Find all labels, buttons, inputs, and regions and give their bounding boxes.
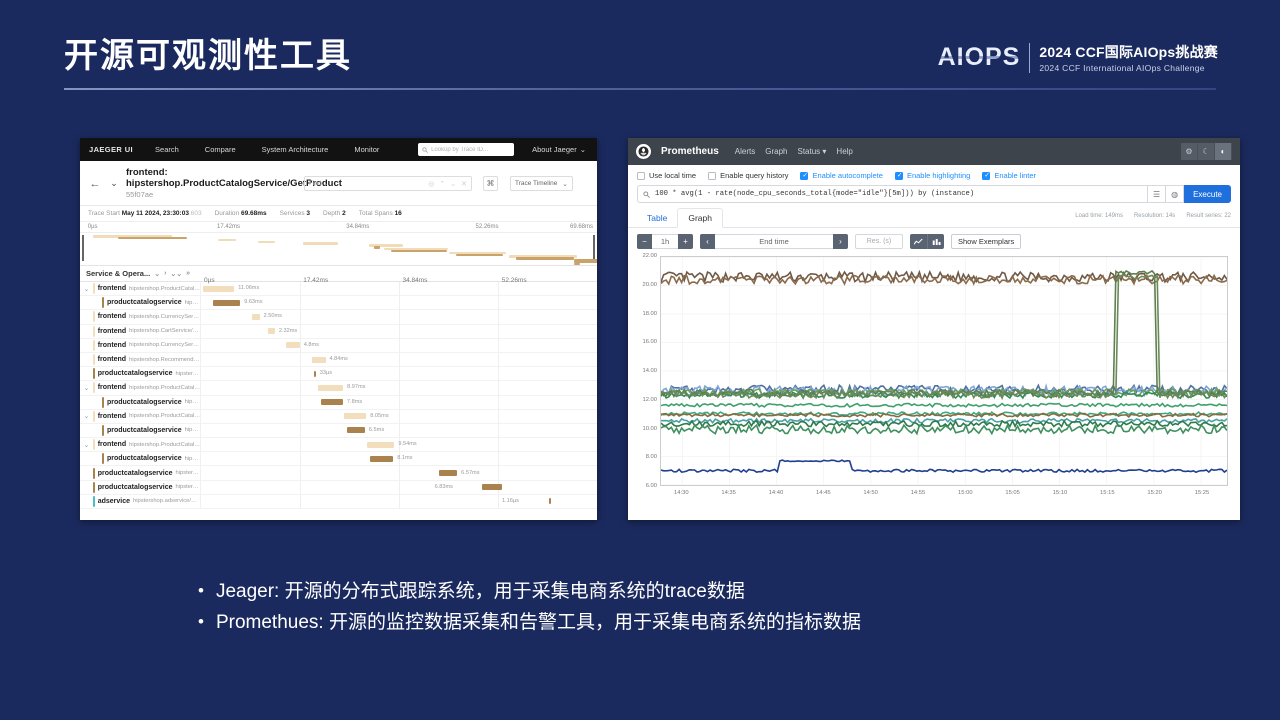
grid-line: [300, 466, 301, 480]
span-name-cell: adservicehipstershop.adservice/ge...: [80, 496, 200, 507]
expand-caret-icon[interactable]: ⌄: [83, 285, 90, 293]
nav-item-status[interactable]: Status ▾: [797, 147, 826, 156]
y-tick-label: 8.00: [646, 454, 657, 460]
grid-line: [498, 409, 499, 423]
time-prev-button[interactable]: ‹: [700, 234, 715, 249]
minimap-span-bar: [374, 246, 380, 249]
table-row[interactable]: frontendhipstershop.CartService/G...2.32…: [80, 325, 597, 339]
grid-line: [300, 338, 301, 352]
grid-line: [399, 338, 400, 352]
aiops-logo-mark: AIOPS: [938, 43, 1021, 72]
span-track: 8.05ms: [200, 409, 597, 423]
span-name-cell: frontendhipstershop.CurrencyServi...: [80, 340, 200, 351]
span-duration-bar[interactable]: [318, 385, 343, 391]
span-operation-name: hipstershop.ProductCatalo...: [129, 413, 200, 419]
table-row[interactable]: productcatalogservicehips...6.5ms: [80, 424, 597, 438]
bullet-dot-icon: •: [198, 580, 204, 602]
checkbox-enable-highlighting[interactable]: Enable highlighting: [895, 171, 970, 180]
chart-series-line: [661, 460, 1227, 472]
range-increase-button[interactable]: +: [678, 234, 693, 249]
span-track: 4.8ms: [200, 338, 597, 352]
table-row[interactable]: ⌄frontendhipstershop.ProductCatalo...11.…: [80, 282, 597, 296]
tab-table[interactable]: Table: [637, 209, 677, 227]
nav-item-monitor[interactable]: Monitor: [354, 145, 379, 154]
service-color-tick: [93, 326, 95, 337]
span-service-name: frontend: [98, 384, 126, 391]
span-name-cell: productcatalogservicehips...: [80, 397, 200, 408]
span-name-cell: productcatalogservicehipsters...: [80, 368, 200, 379]
minimap-span-bar: [574, 263, 580, 266]
minimap-left-handle[interactable]: [82, 235, 84, 261]
service-operation-label: Service & Opera...: [86, 269, 150, 278]
double-chevron-right-icon[interactable]: »: [186, 270, 190, 278]
minimap-tick: 0µs: [88, 224, 98, 230]
span-operation-name: hipsters...: [175, 470, 200, 476]
span-rows: ⌄frontendhipstershop.ProductCatalo...11.…: [80, 282, 597, 509]
minimap-right-handle[interactable]: [593, 235, 595, 261]
span-operation-name: hipstershop.CartService/G...: [129, 328, 200, 334]
span-operation-name: hipstershop.adservice/ge...: [133, 498, 200, 504]
grid-line: [399, 367, 400, 381]
status-label: Status: [797, 147, 820, 156]
span-duration-bar[interactable]: [321, 399, 343, 405]
service-color-tick: [93, 439, 95, 450]
span-service-name: productcatalogservice: [107, 299, 182, 306]
end-time-input[interactable]: End time: [715, 234, 833, 249]
logo-title-cn: 2024 CCF国际AIOps挑战赛: [1039, 42, 1218, 62]
span-duration-bar[interactable]: [367, 442, 394, 448]
table-row[interactable]: frontendhipstershop.CurrencyServi...2.50…: [80, 310, 597, 324]
title-divider: [64, 88, 1216, 90]
find-placeholder: Find...: [309, 180, 327, 187]
span-duration-label: 4.8ms: [304, 342, 319, 348]
close-icon[interactable]: ✕: [461, 180, 467, 188]
grid-line: [498, 423, 499, 437]
query-stats: Load time: 149ms Resolution: 14s Result …: [1075, 213, 1231, 222]
table-row[interactable]: productcatalogservicehips...7.8ms: [80, 396, 597, 410]
metrics-explorer-icon[interactable]: ☰: [1148, 185, 1166, 203]
show-exemplars-button[interactable]: Show Exemplars: [951, 234, 1021, 249]
span-service-name: productcatalogservice: [107, 455, 182, 462]
grid-line: [498, 466, 499, 480]
trace-title: frontend: hipstershop.ProductCatalogServ…: [126, 167, 276, 200]
span-operation-name: hipstershop.ProductCatalo...: [129, 286, 200, 292]
checkbox-label: Enable autocomplete: [812, 171, 882, 180]
span-name-cell: frontendhipstershop.CartService/G...: [80, 326, 200, 337]
checkbox-box[interactable]: [708, 172, 716, 180]
service-color-tick: [93, 382, 95, 393]
prometheus-screenshot: Prometheus Alerts Graph Status ▾ Help ⚙ …: [628, 138, 1240, 520]
meta-depth: Depth 2: [323, 210, 346, 217]
span-duration-bar[interactable]: [252, 314, 259, 320]
cpu-usage-chart: 6.008.0010.0012.0014.0016.0018.0020.0022…: [637, 256, 1228, 508]
meta-duration: Duration 69.68ms: [215, 210, 267, 217]
span-name-cell: frontendhipstershop.CurrencyServi...: [80, 311, 200, 322]
grid-line: [300, 282, 301, 296]
service-color-tick: [93, 496, 95, 507]
view-mode-select[interactable]: Trace Timeline ⌄: [510, 176, 573, 191]
minimap-canvas: [88, 233, 589, 266]
minimap-span-bar: [303, 242, 338, 245]
span-duration-label: 33µs: [320, 370, 332, 376]
checkbox-use-local-time[interactable]: Use local time: [637, 171, 696, 180]
y-tick-label: 16.00: [642, 339, 657, 345]
grid-line: [498, 310, 499, 324]
stat-result-series: Result series: 22: [1186, 213, 1231, 219]
grid-line: [399, 494, 400, 508]
prometheus-brand[interactable]: Prometheus: [661, 146, 719, 157]
service-color-tick: [93, 311, 95, 322]
span-name-cell: ⌄frontendhipstershop.ProductCatalo...: [80, 382, 200, 393]
trace-id: 55f07ae: [126, 190, 153, 199]
minimap-tick: 34.84ms: [346, 224, 369, 230]
service-color-tick: [102, 453, 104, 464]
span-duration-label: 9.54ms: [398, 441, 416, 447]
span-duration-label: 11.06ms: [238, 285, 259, 291]
theme-controls: ⚙ ☾ ◐: [1181, 143, 1232, 160]
checkbox-label: Enable linter: [994, 171, 1036, 180]
span-track: 4.84ms: [200, 353, 597, 367]
span-operation-name: hipstershop.ProductCatalo...: [129, 385, 200, 391]
grid-line: [498, 452, 499, 466]
logo-divider: [1029, 43, 1030, 73]
table-row[interactable]: frontendhipstershop.Recommendat...4.84ms: [80, 353, 597, 367]
nav-item-graph[interactable]: Graph: [765, 147, 787, 156]
span-duration-label: 9.63ms: [244, 299, 262, 305]
query-input[interactable]: 100 * avg(1 - rate(node_cpu_seconds_tota…: [637, 185, 1148, 203]
service-color-tick: [93, 482, 95, 493]
expand-collapse-controls[interactable]: ⌄ › ⌄⌄ »: [154, 270, 190, 278]
chart-series-line: [661, 421, 1227, 427]
checkbox-enable-linter[interactable]: Enable linter: [982, 171, 1036, 180]
grid-line: [399, 423, 400, 437]
checkbox-label: Enable highlighting: [907, 171, 970, 180]
grid-line: [498, 353, 499, 367]
resolution-input[interactable]: Res. (s): [855, 234, 903, 249]
span-duration-bar[interactable]: [370, 456, 393, 462]
grid-line: [399, 353, 400, 367]
stat-resolution: Resolution: 14s: [1134, 213, 1175, 219]
span-track: 9.54ms: [200, 438, 597, 452]
span-duration-bar[interactable]: [286, 342, 300, 348]
span-duration-label: 7.8ms: [347, 399, 362, 405]
grid-line: [399, 324, 400, 338]
grid-line: [300, 324, 301, 338]
table-row[interactable]: productcatalogservicehips...9.63ms: [80, 296, 597, 310]
stat-load-time: Load time: 149ms: [1075, 213, 1123, 219]
range-value[interactable]: 1h: [652, 234, 678, 249]
span-duration-bar[interactable]: [203, 286, 234, 292]
span-service-name: frontend: [98, 413, 126, 420]
table-row[interactable]: productcatalogservicehips...8.1ms: [80, 452, 597, 466]
back-button[interactable]: ←: [88, 178, 102, 190]
checkbox-box[interactable]: [895, 172, 903, 180]
minimap-ticks: 0µs17.42ms34.84ms52.26ms69.68ms: [80, 222, 597, 233]
grid-line: [399, 296, 400, 310]
prometheus-navbar: Prometheus Alerts Graph Status ▾ Help ⚙ …: [628, 138, 1240, 165]
y-tick-label: 14.00: [642, 368, 657, 374]
keyboard-shortcut-button[interactable]: ⌘: [483, 176, 498, 191]
checkbox-enable-autocomplete[interactable]: Enable autocomplete: [800, 171, 882, 180]
range-decrease-button[interactable]: −: [637, 234, 652, 249]
service-color-tick: [93, 354, 95, 365]
trace-minimap[interactable]: 0µs17.42ms34.84ms52.26ms69.68ms: [80, 222, 597, 266]
span-service-name: productcatalogservice: [107, 399, 182, 406]
chart-plot-area[interactable]: [660, 256, 1228, 486]
span-track: 11.06ms: [200, 282, 597, 296]
span-name-cell: productcatalogservicehips...: [80, 425, 200, 436]
contrast-icon[interactable]: ◐: [1215, 143, 1232, 160]
span-duration-bar[interactable]: [314, 371, 316, 377]
stacked-chart-icon[interactable]: [927, 234, 944, 249]
chart-y-axis: 6.008.0010.0012.0014.0016.0018.0020.0022…: [637, 256, 659, 486]
grid-line: [498, 324, 499, 338]
prometheus-logo-icon: [636, 144, 651, 159]
grid-line: [399, 466, 400, 480]
bullet-text: Promethues: 开源的监控数据采集和告警工具，用于采集电商系统的指标数据: [216, 611, 861, 635]
grid-line: [300, 381, 301, 395]
bullet-text: Jeager: 开源的分布式跟踪系统，用于采集电商系统的trace数据: [216, 580, 745, 604]
query-options-row: Use local timeEnable query historyEnable…: [628, 165, 1240, 185]
span-service-name: adservice: [98, 498, 130, 505]
grid-line: [399, 480, 400, 494]
jaeger-screenshot: JAEGER UI Search Compare System Architec…: [80, 138, 597, 520]
minimap-tick: 52.26ms: [476, 224, 499, 230]
table-row[interactable]: ⌄frontendhipstershop.ProductCatalo...8.9…: [80, 381, 597, 395]
time-next-button[interactable]: ›: [833, 234, 848, 249]
checkbox-box[interactable]: [800, 172, 808, 180]
minimap-tick: 69.68ms: [570, 224, 593, 230]
table-row[interactable]: ⌄frontendhipstershop.ProductCatalo...9.5…: [80, 438, 597, 452]
expand-caret-icon[interactable]: ⌄: [83, 384, 90, 392]
meta-services: Services 3: [280, 210, 310, 217]
service-color-tick: [93, 368, 95, 379]
span-track: 8.97ms: [200, 381, 597, 395]
chevron-down-icon: ⌄: [580, 145, 586, 154]
span-track: 6.83ms: [200, 480, 597, 494]
span-track: 8.1ms: [200, 452, 597, 466]
chart-series-line: [661, 425, 1227, 433]
grid-line: [498, 367, 499, 381]
grid-line: [300, 494, 301, 508]
query-row: 100 * avg(1 - rate(node_cpu_seconds_tota…: [628, 185, 1240, 203]
span-operation-name: hipstershop.CurrencyServi...: [129, 314, 200, 320]
grid-line: [498, 282, 499, 296]
search-icon: [422, 147, 428, 153]
double-chevron-down-icon[interactable]: ⌄⌄: [170, 270, 182, 278]
service-color-tick: [102, 425, 104, 436]
jaeger-brand[interactable]: JAEGER UI: [89, 145, 133, 154]
grid-line: [498, 494, 499, 508]
tab-graph[interactable]: Graph: [677, 208, 723, 228]
page-title: 开源可观测性工具: [64, 28, 352, 77]
range-stepper: − 1h +: [637, 234, 693, 249]
nav-item-system-architecture[interactable]: System Architecture: [262, 145, 329, 154]
x-tick-label: 15:15: [1100, 490, 1115, 496]
span-table-header: Service & Opera... ⌄ › ⌄⌄ » 0µs17.42ms34…: [80, 266, 597, 282]
clock-history-icon[interactable]: ◍: [1166, 185, 1184, 203]
grid-line: [300, 395, 301, 409]
expand-caret-icon[interactable]: ⌄: [83, 441, 90, 449]
find-controls[interactable]: ◎ ⌃ ⌄ ✕: [428, 180, 467, 188]
collapse-caret-icon[interactable]: ⌄: [108, 178, 120, 189]
checkbox-label: Enable query history: [720, 171, 788, 180]
nav-item-search[interactable]: Search: [155, 145, 179, 154]
bullet-list: •Jeager: 开源的分布式跟踪系统，用于采集电商系统的trace数据•Pro…: [198, 580, 1158, 642]
search-icon: [643, 191, 650, 198]
graph-controls: − 1h + ‹ End time › Res. (s) Show Exempl…: [628, 228, 1240, 254]
x-tick-label: 14:30: [674, 490, 689, 496]
service-color-tick: [93, 468, 95, 479]
span-duration-label: 6.5ms: [369, 427, 384, 433]
nav-item-help[interactable]: Help: [836, 147, 852, 156]
span-duration-label: 8.05ms: [370, 413, 388, 419]
span-service-name: frontend: [98, 342, 126, 349]
span-operation-name: hipsters...: [175, 484, 200, 490]
result-tabs: Table Graph Load time: 149ms Resolution:…: [628, 208, 1240, 228]
service-color-tick: [93, 340, 95, 351]
span-duration-label: 2.32ms: [279, 328, 297, 334]
y-tick-label: 18.00: [642, 311, 657, 317]
y-tick-label: 12.00: [642, 397, 657, 403]
expand-caret-icon[interactable]: ⌄: [83, 412, 90, 420]
end-time-picker: ‹ End time ›: [700, 234, 848, 249]
table-row[interactable]: productcatalogservicehipsters...6.57ms: [80, 466, 597, 480]
span-duration-label: 6.57ms: [461, 470, 479, 476]
span-operation-name: hipsters...: [175, 371, 200, 377]
x-tick-label: 14:50: [863, 490, 878, 496]
x-tick-label: 14:40: [769, 490, 784, 496]
span-duration-label: 1.16µs: [502, 498, 519, 504]
grid-line: [300, 353, 301, 367]
nav-item-alerts[interactable]: Alerts: [735, 147, 755, 156]
span-duration-bar[interactable]: [482, 484, 501, 490]
x-tick-label: 15:20: [1147, 490, 1162, 496]
span-duration-bar[interactable]: [439, 470, 458, 476]
span-operation-name: hips...: [185, 427, 200, 433]
grid-line: [498, 438, 499, 452]
chart-series-line: [661, 275, 1227, 398]
x-tick-label: 14:35: [721, 490, 736, 496]
about-jaeger-label: About Jaeger: [532, 145, 577, 154]
span-operation-name: hips...: [185, 300, 200, 306]
chevron-down-icon[interactable]: ⌄: [154, 270, 160, 278]
span-name-cell: productcatalogservicehips...: [80, 297, 200, 308]
x-tick-label: 15:00: [958, 490, 973, 496]
span-name-cell: ⌄frontendhipstershop.ProductCatalo...: [80, 283, 200, 294]
chevron-down-icon: ⌄: [562, 180, 567, 188]
span-name-cell: ⌄frontendhipstershop.ProductCatalo...: [80, 439, 200, 450]
span-track: 33µs: [200, 367, 597, 381]
y-tick-label: 6.00: [646, 483, 657, 489]
service-color-tick: [93, 411, 95, 422]
span-operation-name: hips...: [185, 399, 200, 405]
span-duration-bar[interactable]: [347, 427, 365, 433]
span-duration-bar[interactable]: [213, 300, 240, 306]
minimap-span-bar: [258, 241, 275, 244]
view-mode-label: Trace Timeline: [515, 180, 557, 187]
checkbox-box[interactable]: [982, 172, 990, 180]
y-tick-label: 22.00: [642, 253, 657, 259]
span-duration-bar[interactable]: [344, 413, 367, 419]
list-item: •Promethues: 开源的监控数据采集和告警工具，用于采集电商系统的指标数…: [198, 611, 1158, 635]
span-duration-bar[interactable]: [312, 357, 326, 363]
table-row[interactable]: adservicehipstershop.adservice/ge...1.16…: [80, 495, 597, 509]
execute-button[interactable]: Execute: [1184, 185, 1231, 203]
chevron-right-icon[interactable]: ›: [164, 270, 166, 278]
span-duration-bar[interactable]: [549, 498, 551, 504]
span-name-cell: productcatalogservicehipsters...: [80, 482, 200, 493]
chart-series-line: [661, 404, 1227, 407]
span-name-cell: frontendhipstershop.Recommendat...: [80, 354, 200, 365]
list-item: •Jeager: 开源的分布式跟踪系统，用于采集电商系统的trace数据: [198, 580, 1158, 604]
table-row[interactable]: productcatalogservicehipsters...33µs: [80, 367, 597, 381]
trace-id-search-placeholder: Lookup by Trace ID...: [431, 147, 488, 153]
span-track: 7.8ms: [200, 395, 597, 409]
nav-item-compare[interactable]: Compare: [205, 145, 236, 154]
chart-svg: [661, 257, 1227, 485]
clear-circle-icon[interactable]: ◎: [428, 180, 434, 188]
jaeger-trace-header: ← ⌄ frontend: hipstershop.ProductCatalog…: [80, 161, 597, 206]
table-row[interactable]: productcatalogservicehipsters...6.83ms: [80, 481, 597, 495]
table-row[interactable]: ⌄frontendhipstershop.ProductCatalo...8.0…: [80, 410, 597, 424]
table-row[interactable]: frontendhipstershop.CurrencyServi...4.8m…: [80, 339, 597, 353]
meta-total-spans: Total Spans 16: [359, 210, 402, 217]
span-service-name: frontend: [98, 313, 126, 320]
grid-line: [498, 381, 499, 395]
span-operation-name: hipstershop.CurrencyServi...: [129, 342, 200, 348]
chevron-up-icon[interactable]: ⌃: [439, 180, 445, 188]
logo-title-en: 2024 CCF International AIOps Challenge: [1039, 63, 1218, 73]
x-tick-label: 14:45: [816, 490, 831, 496]
service-operation-column-header[interactable]: Service & Opera... ⌄ › ⌄⌄ »: [80, 269, 200, 278]
minimap-span-bar: [516, 257, 574, 260]
grid-line: [300, 367, 301, 381]
trace-id-search-input[interactable]: Lookup by Trace ID...: [418, 143, 514, 156]
chevron-down-icon[interactable]: ⌄: [450, 180, 456, 188]
span-duration-label: 6.83ms: [435, 484, 453, 490]
x-tick-label: 15:10: [1053, 490, 1068, 496]
span-duration-label: 2.50ms: [264, 313, 282, 319]
checkbox-enable-query-history[interactable]: Enable query history: [708, 171, 788, 180]
grid-line: [300, 480, 301, 494]
event-logo: AIOPS 2024 CCF国际AIOps挑战赛 2024 CCF Intern…: [938, 42, 1218, 73]
span-service-name: productcatalogservice: [98, 470, 173, 477]
caret-down-icon: ▾: [822, 147, 826, 156]
grid-line: [300, 423, 301, 437]
grid-line: [498, 296, 499, 310]
moon-icon[interactable]: ☾: [1198, 143, 1215, 160]
line-chart-icon[interactable]: [910, 234, 927, 249]
checkbox-box[interactable]: [637, 172, 645, 180]
find-input[interactable]: Find... ◎ ⌃ ⌄ ✕: [304, 176, 472, 191]
trace-meta-row: Trace Start May 11 2024, 23:30:03.603Dur…: [80, 206, 597, 222]
about-jaeger-menu[interactable]: About Jaeger ⌄: [532, 145, 586, 154]
minimap-span-bar: [391, 250, 447, 253]
span-name-cell: productcatalogservicehips...: [80, 453, 200, 464]
x-tick-label: 15:25: [1195, 490, 1210, 496]
chart-x-axis: 14:3014:3514:4014:4514:5014:5515:0015:05…: [660, 488, 1228, 502]
span-duration-label: 8.97ms: [347, 384, 365, 390]
checkbox-label: Use local time: [649, 171, 696, 180]
grid-line: [399, 409, 400, 423]
span-duration-bar[interactable]: [268, 328, 275, 334]
gear-icon[interactable]: ⚙: [1181, 143, 1198, 160]
span-duration-label: 8.1ms: [397, 455, 412, 461]
grid-line: [399, 282, 400, 296]
span-service-name: frontend: [98, 441, 126, 448]
grid-line: [498, 338, 499, 352]
